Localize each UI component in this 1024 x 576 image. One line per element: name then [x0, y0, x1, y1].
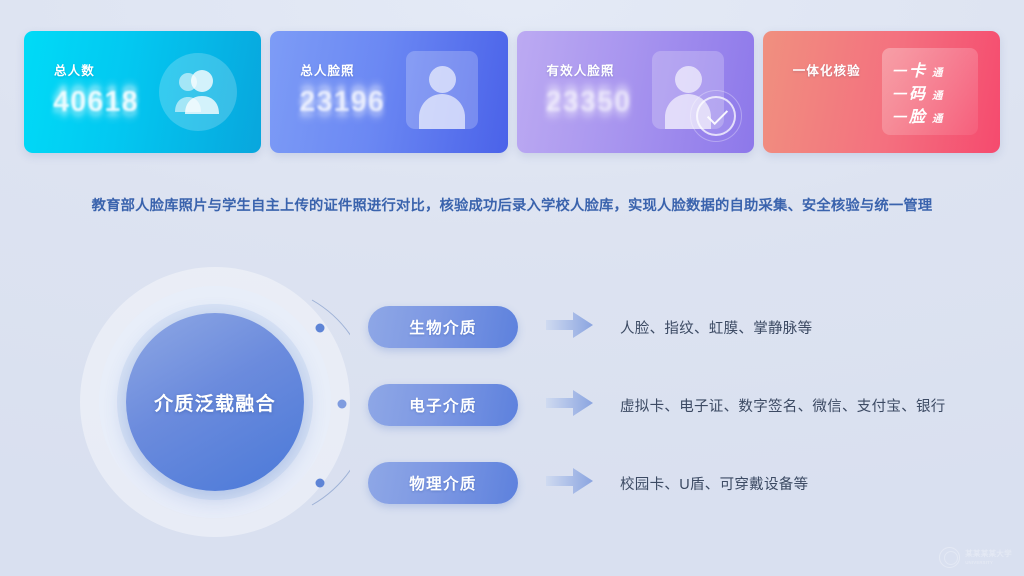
- three-pass-main: 脸: [909, 103, 925, 127]
- university-seal-icon: [939, 547, 960, 568]
- three-pass-suffix: 通: [932, 111, 943, 126]
- three-pass-main: 码: [909, 80, 925, 104]
- three-pass-panel-icon: 一 卡 通 一 码 通 一 脸 通: [882, 48, 978, 135]
- center-orb[interactable]: 介质泛载融合: [126, 313, 304, 491]
- three-pass-prefix: 一: [892, 61, 906, 81]
- stat-card-value: 23196: [299, 86, 385, 119]
- stat-card-value: 40618: [53, 86, 139, 119]
- three-pass-prefix: 一: [892, 107, 906, 127]
- stat-card-total-people[interactable]: 总人数 40618: [24, 31, 261, 153]
- media-items-biometric: 人脸、指纹、虹膜、掌静脉等: [620, 317, 812, 338]
- stat-card-label: 总人脸照: [300, 60, 354, 79]
- id-photo-head: [429, 66, 456, 93]
- watermark-name: 某某某某大学: [965, 549, 1012, 558]
- three-pass-row: 一 卡 通: [892, 57, 978, 80]
- three-pass-suffix: 通: [932, 65, 943, 80]
- three-pass-prefix: 一: [892, 84, 906, 104]
- media-row-physical: 物理介质 校园卡、U盾、可穿戴设备等: [368, 462, 808, 504]
- stat-card-total-face-photos[interactable]: 总人脸照 23196: [270, 31, 507, 153]
- center-orb-group: 介质泛载融合: [70, 262, 360, 542]
- id-photo-icon: [406, 51, 478, 129]
- stat-card-label: 一体化核验: [793, 60, 861, 79]
- media-pill-biometric[interactable]: 生物介质: [368, 306, 518, 348]
- orbit-dot: [316, 324, 325, 333]
- media-pill-physical[interactable]: 物理介质: [368, 462, 518, 504]
- stat-card-label: 有效人脸照: [547, 60, 615, 79]
- orbit-dot: [338, 400, 347, 409]
- stat-card-valid-face-photos[interactable]: 有效人脸照 23350: [517, 31, 754, 153]
- stat-card-row: 总人数 40618 总人脸照 23196 有效人脸照 233: [24, 31, 1000, 153]
- right-arrow-icon: [546, 467, 594, 500]
- id-photo-head: [675, 66, 702, 93]
- orbit-dot: [316, 479, 325, 488]
- media-items-physical: 校园卡、U盾、可穿戴设备等: [620, 473, 808, 494]
- id-photo-body: [419, 94, 465, 129]
- stat-card-value: 23350: [546, 86, 632, 119]
- watermark-sub: UNIVERSITY: [965, 558, 1012, 567]
- media-pill-electronic[interactable]: 电子介质: [368, 384, 518, 426]
- three-pass-main: 卡: [909, 57, 925, 81]
- media-items-electronic: 虚拟卡、电子证、数字签名、微信、支付宝、银行: [620, 395, 946, 416]
- slide-canvas: 总人数 40618 总人脸照 23196 有效人脸照 233: [0, 0, 1024, 576]
- description-text: 教育部人脸库照片与学生自主上传的证件照进行对比，核验成功后录入学校人脸库，实现人…: [0, 194, 1024, 215]
- right-arrow-icon: [546, 389, 594, 422]
- center-orb-label: 介质泛载融合: [154, 389, 276, 416]
- people-group-icon: [159, 53, 237, 131]
- right-arrow-icon: [546, 311, 594, 344]
- university-watermark: 某某某某大学 UNIVERSITY: [939, 547, 1012, 568]
- three-pass-row: 一 脸 通: [892, 103, 978, 126]
- media-fusion-diagram: 介质泛载融合 生物介质 人脸、指纹、虹膜、掌静脉等: [0, 262, 1024, 552]
- media-row-electronic: 电子介质 虚拟卡、电子证、数字签名、微信、支付宝、银行: [368, 384, 946, 426]
- stat-card-integrated-verification[interactable]: 一体化核验 一 卡 通 一 码 通 一 脸 通: [763, 31, 1000, 153]
- three-pass-row: 一 码 通: [892, 80, 978, 103]
- media-row-biometric: 生物介质 人脸、指纹、虹膜、掌静脉等: [368, 306, 812, 348]
- check-circle-icon: [696, 96, 736, 136]
- stat-card-label: 总人数: [54, 60, 95, 79]
- three-pass-suffix: 通: [932, 88, 943, 103]
